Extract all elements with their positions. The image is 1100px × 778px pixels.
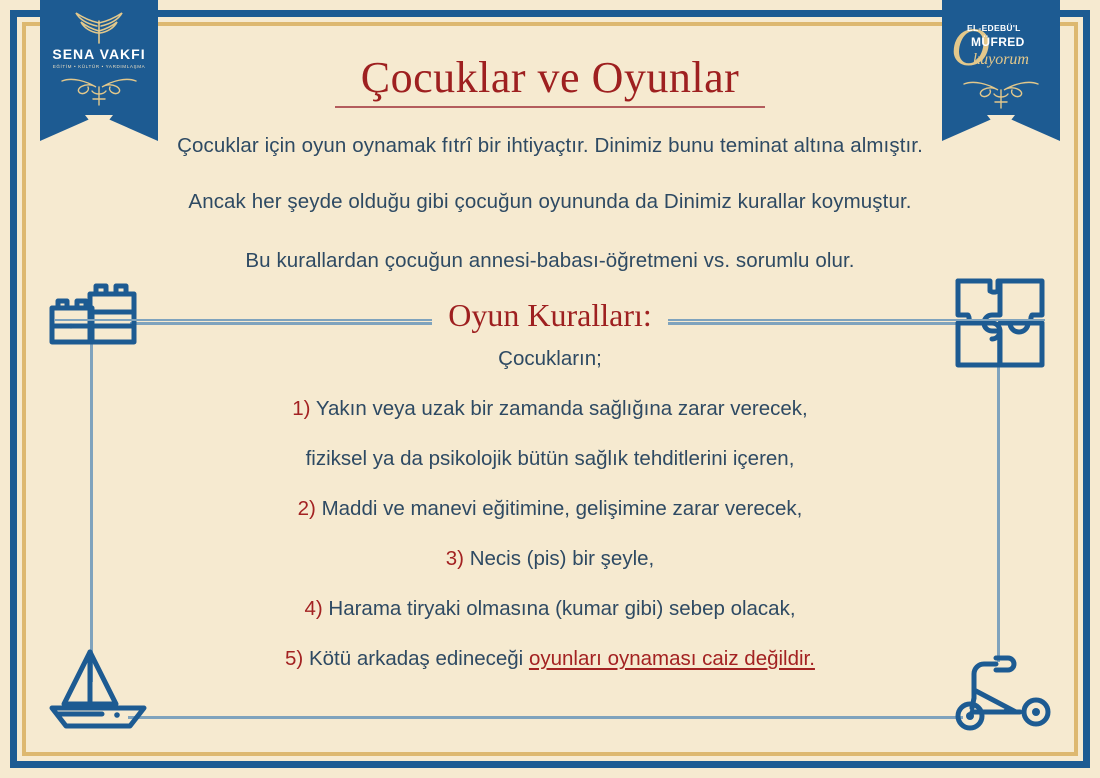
poster-content: Çocuklar ve Oyunlar Çocuklar için oyun o…: [0, 0, 1100, 671]
list-item: 5) Kötü arkadaş edineceği oyunları oynam…: [0, 647, 1100, 671]
logo-line-okuyorum: kuyorum: [973, 51, 1029, 69]
rule-number: 5): [285, 647, 303, 670]
list-item: fiziksel ya da psikolojik bütün sağlık t…: [0, 447, 1100, 471]
rule-text: Harama tiryaki olmasına (kumar gibi) seb…: [328, 597, 795, 620]
section-heading: Oyun Kuralları:: [432, 291, 668, 339]
list-item: 4) Harama tiryaki olmasına (kumar gibi) …: [0, 597, 1100, 621]
logo-name: SENA VAKFI: [52, 46, 145, 62]
page-title: Çocuklar ve Oyunlar: [0, 0, 1100, 103]
rule-text: fiziksel ya da psikolojik bütün sağlık t…: [306, 447, 795, 470]
list-item: 1) Yakın veya uzak bir zamanda sağlığına…: [0, 397, 1100, 421]
intro-paragraph-2: Ancak her şeyde olduğu gibi çocuğun oyun…: [0, 190, 1100, 214]
connector-line-bottom: [128, 716, 963, 719]
rules-list: 1) Yakın veya uzak bir zamanda sağlığına…: [0, 397, 1100, 671]
ornament-flourish-icon: [56, 75, 142, 107]
rule-number: 4): [304, 597, 322, 620]
rule-text: Necis (pis) bir şeyle,: [470, 547, 655, 570]
rule-number: 1): [292, 397, 310, 420]
ornament-flourish-icon-right: [958, 78, 1044, 110]
section-heading-block: Oyun Kuralları:: [0, 291, 1100, 339]
poster-canvas: SENA VAKFI EĞİTİM • KÜLTÜR • YARDIMLAŞMA…: [0, 0, 1100, 778]
intro-paragraph-1: Çocuklar için oyun oynamak fıtrî bir iht…: [0, 134, 1100, 158]
rule-text: Kötü arkadaş edineceği: [309, 647, 529, 670]
rule-text: Yakın veya uzak bir zamanda sağlığına za…: [316, 397, 808, 420]
rule-text: Maddi ve manevi eğitimine, gelişimine za…: [322, 497, 803, 520]
banner-notch-right: [987, 115, 1015, 133]
wheat-emblem-icon: [68, 11, 130, 45]
rule-number: 3): [446, 547, 464, 570]
logo-subtitle: EĞİTİM • KÜLTÜR • YARDIMLAŞMA: [53, 64, 146, 69]
logo-line-mufred: MÜFRED: [971, 35, 1025, 49]
banner-notch-left: [85, 115, 113, 133]
intro-paragraph-3: Bu kurallardan çocuğun annesi-babası-öğr…: [0, 249, 1100, 273]
logo-el-edebul-mufred: O EL-EDEBÜ'L MÜFRED kuyorum: [942, 0, 1060, 115]
list-item: 3) Necis (pis) bir şeyle,: [0, 547, 1100, 571]
rule-highlight-text: oyunları oynaması caiz değildir.: [529, 647, 815, 670]
list-sub-heading: Çocukların;: [0, 347, 1100, 371]
list-item: 2) Maddi ve manevi eğitimine, gelişimine…: [0, 497, 1100, 521]
logo-line-el-edebul: EL-EDEBÜ'L: [967, 23, 1021, 33]
rule-number: 2): [298, 497, 316, 520]
title-underline: [335, 106, 765, 108]
logo-sena-vakfi: SENA VAKFI EĞİTİM • KÜLTÜR • YARDIMLAŞMA: [40, 0, 158, 115]
